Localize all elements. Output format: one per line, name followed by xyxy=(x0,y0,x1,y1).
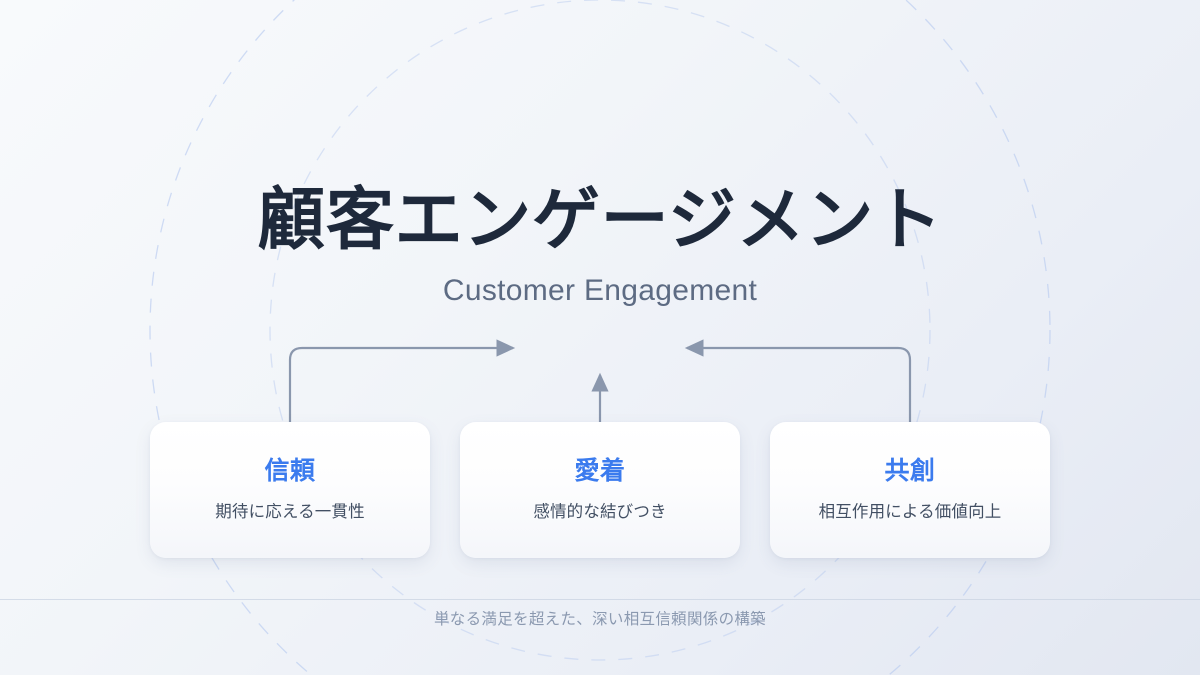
page-subtitle: Customer Engagement xyxy=(0,276,1200,306)
page-title: 顧客エンゲージメント xyxy=(0,186,1200,254)
card-description: 感情的な結びつき xyxy=(533,504,666,521)
header-block: 顧客エンゲージメント Customer Engagement xyxy=(0,186,1200,306)
concept-card-cocreation[interactable]: 共創 相互作用による価値向上 xyxy=(770,422,1050,558)
arrow-trust-to-center xyxy=(290,348,513,422)
card-title: 信頼 xyxy=(264,459,315,484)
footer-divider xyxy=(0,599,1200,600)
card-description: 相互作用による価値向上 xyxy=(819,504,1002,521)
footer-caption: 単なる満足を超えた、深い相互信頼関係の構築 xyxy=(0,612,1200,628)
dashed-circle-large xyxy=(150,0,1050,675)
card-title: 愛着 xyxy=(574,459,625,484)
card-title: 共創 xyxy=(884,459,935,484)
card-description: 期待に応える一貫性 xyxy=(215,504,365,521)
concept-card-attachment[interactable]: 愛着 感情的な結びつき xyxy=(460,422,740,558)
concept-card-trust[interactable]: 信頼 期待に応える一貫性 xyxy=(150,422,430,558)
dashed-circle-small xyxy=(270,0,930,660)
connector-arrows xyxy=(0,0,1200,675)
background-decoration xyxy=(0,0,1200,675)
arrow-cocreation-to-center xyxy=(687,348,910,422)
slide-canvas: 顧客エンゲージメント Customer Engagement 信頼 期待に応える… xyxy=(0,0,1200,675)
concept-card-row: 信頼 期待に応える一貫性 愛着 感情的な結びつき 共創 相互作用による価値向上 xyxy=(150,422,1050,558)
